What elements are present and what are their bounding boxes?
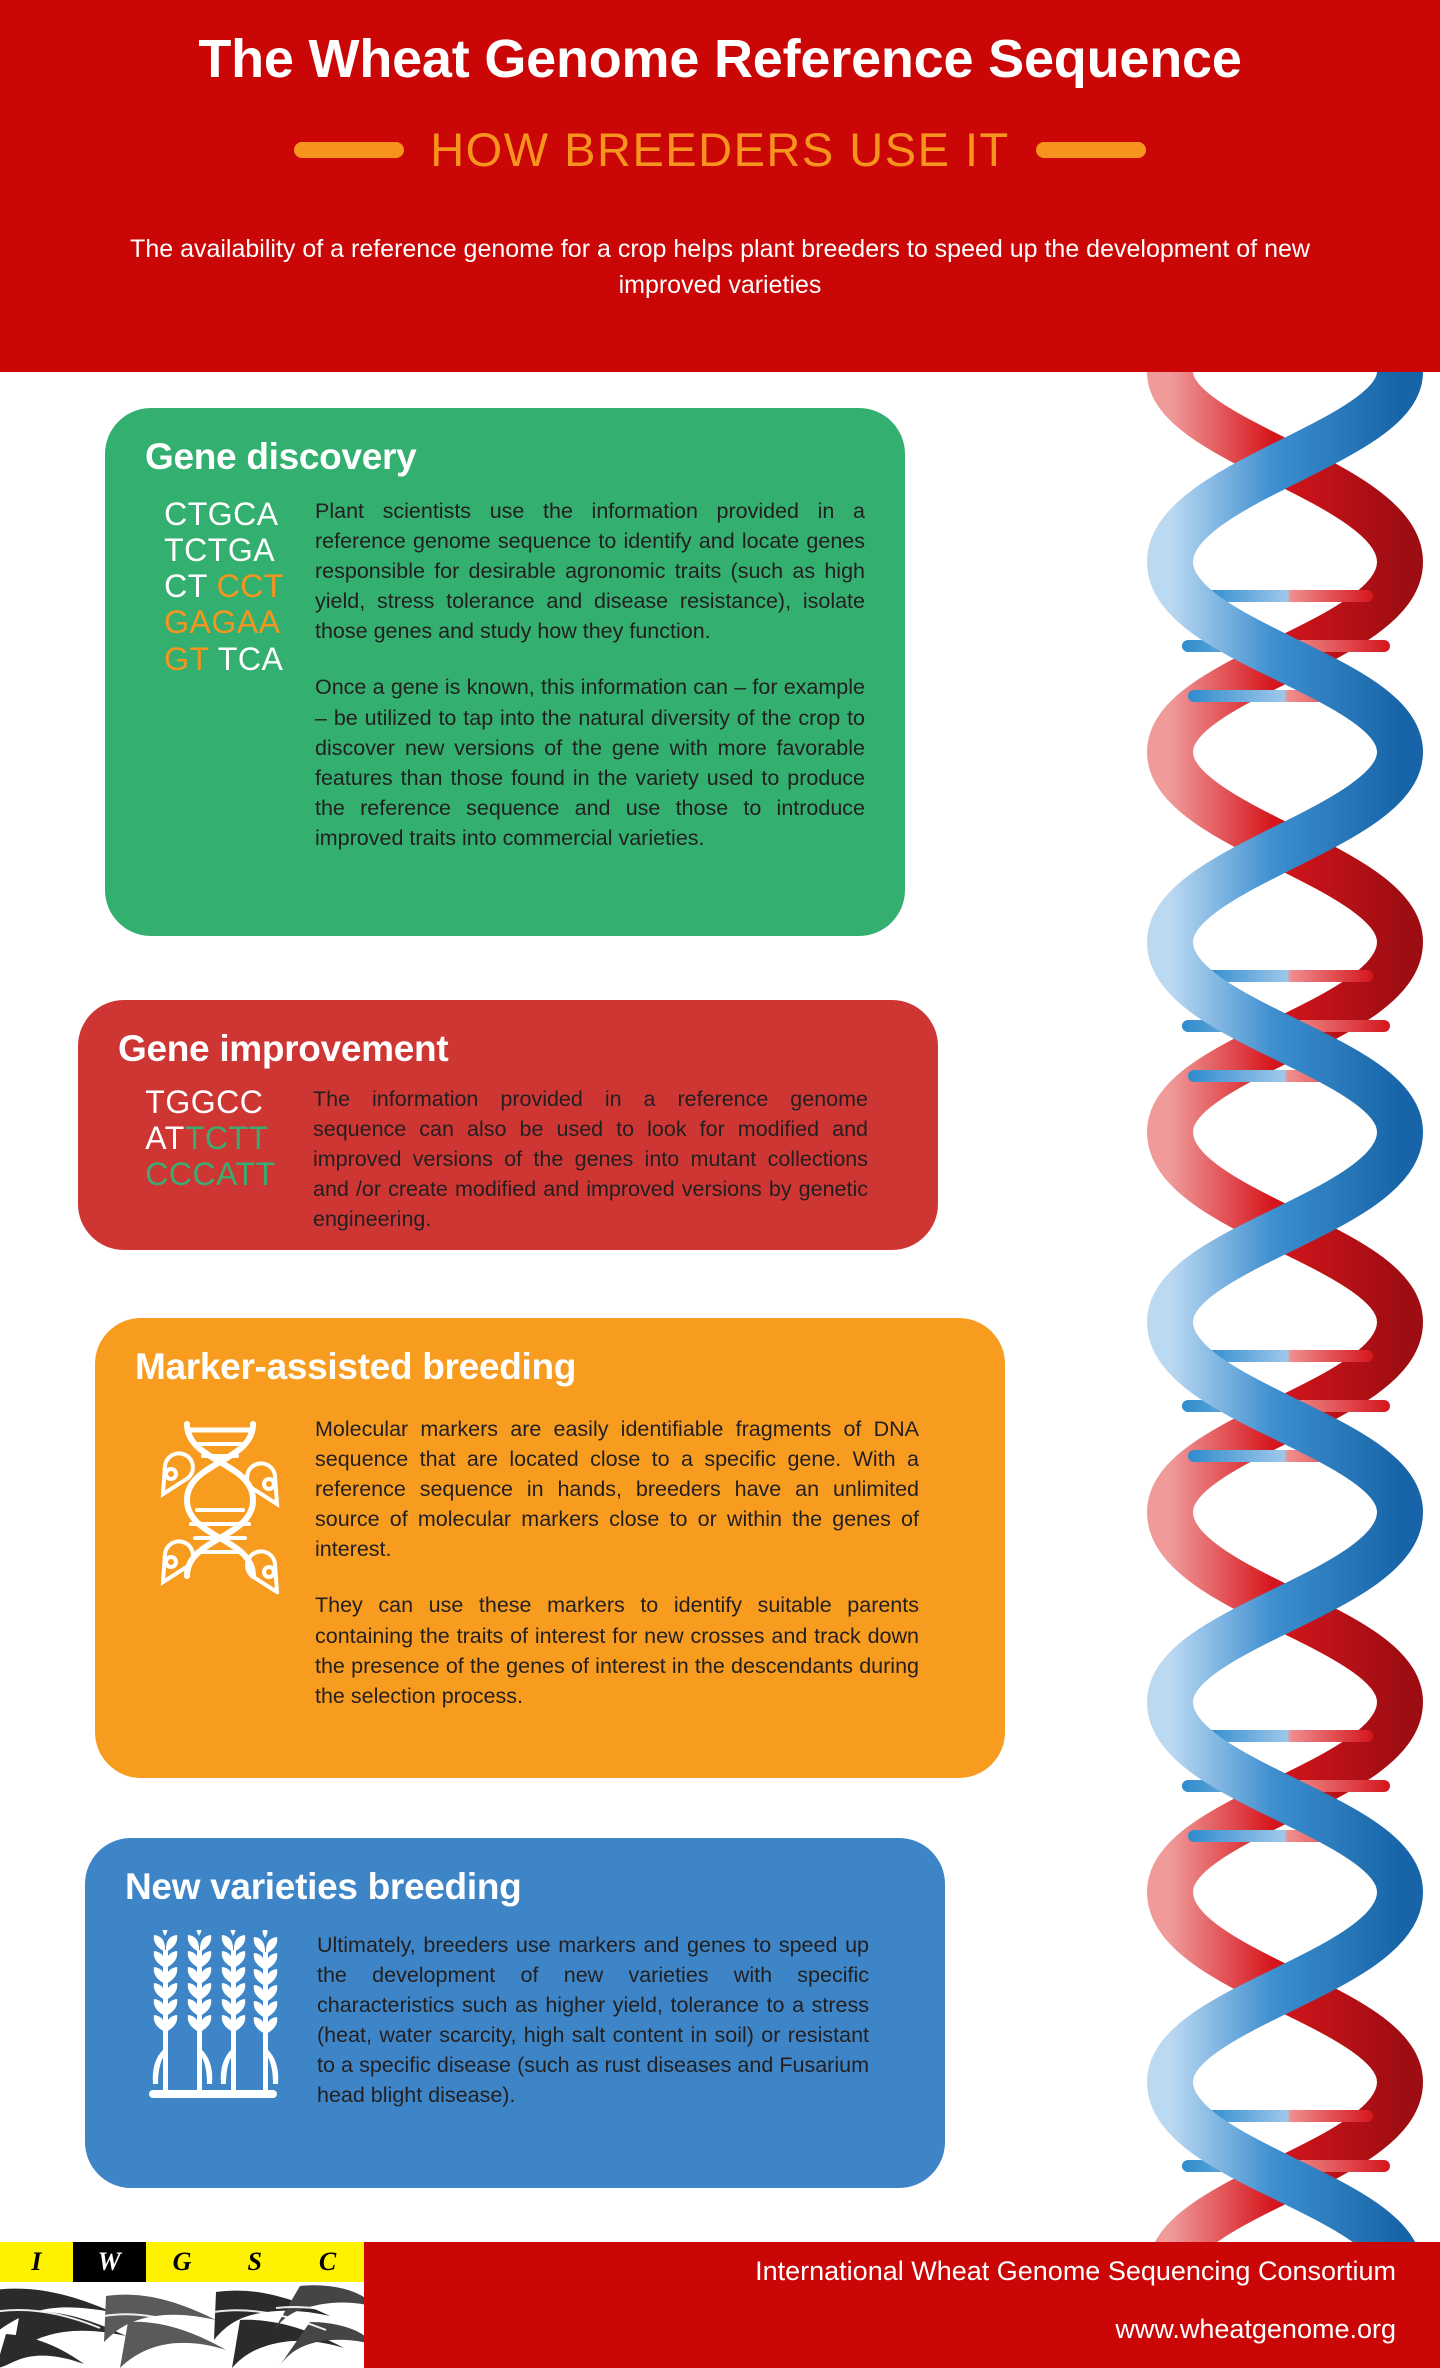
card-gene-improvement: Gene improvement TGGCC ATTCTT CCCATT The… (78, 1000, 938, 1250)
dna-sequence-gene-discovery: CTGCA TCTGA CT CCT GAGAA GT TCA (145, 496, 303, 853)
card-paragraph: The information provided in a reference … (313, 1084, 868, 1234)
dna-sequence-text: CTGCA TCTGA CT CCT GAGAA GT TCA (164, 496, 284, 677)
logo-letter-c: C (291, 2242, 364, 2282)
logo-letter-i: I (0, 2242, 73, 2282)
card-paragraph: Ultimately, breeders use markers and gen… (317, 1930, 869, 2111)
page-footer: International Wheat Genome Sequencing Co… (0, 2242, 1440, 2368)
iwgsc-logo-letter-band: I W G S C (0, 2242, 364, 2282)
card-marker-assisted-breeding: Marker-assisted breeding (95, 1318, 1005, 1778)
iwgsc-logo[interactable]: I W G S C (0, 2242, 364, 2368)
card-title-marker-breeding: Marker-assisted breeding (135, 1346, 965, 1388)
card-title-gene-improvement: Gene improvement (118, 1028, 898, 1070)
header-lede-text: The availability of a reference genome f… (120, 232, 1320, 303)
card-paragraph: Plant scientists use the information pro… (315, 496, 865, 646)
logo-letter-s: S (218, 2242, 291, 2282)
footer-consortium-name: International Wheat Genome Sequencing Co… (755, 2256, 1396, 2287)
card-title-new-varieties: New varieties breeding (125, 1866, 905, 1908)
card-title-gene-discovery: Gene discovery (145, 436, 865, 478)
wheat-stalks-icon (125, 1930, 305, 2130)
dna-sequence-gene-improvement: TGGCC ATTCTT CCCATT (118, 1084, 303, 1234)
footer-red-bar: International Wheat Genome Sequencing Co… (364, 2242, 1440, 2368)
card-new-varieties-breeding: New varieties breeding (85, 1838, 945, 2188)
page-title: The Wheat Genome Reference Sequence (0, 28, 1440, 90)
dash-right-decoration (1036, 142, 1146, 158)
dna-sequence-text: TGGCC ATTCTT CCCATT (145, 1084, 275, 1192)
dna-double-helix-illustration (1110, 372, 1440, 2272)
logo-letter-w: W (73, 2242, 146, 2282)
dash-left-decoration (294, 142, 404, 158)
wheat-spike-photo-icon (0, 2282, 364, 2368)
dna-markers-icon (135, 1414, 305, 1711)
infographic-page: The Wheat Genome Reference Sequence HOW … (0, 0, 1440, 2368)
card-gene-discovery: Gene discovery CTGCA TCTGA CT CCT GAGAA … (105, 408, 905, 936)
subtitle-row: HOW BREEDERS USE IT (0, 122, 1440, 177)
footer-website-url[interactable]: www.wheatgenome.org (1115, 2314, 1396, 2345)
card-paragraph: Once a gene is known, this information c… (315, 672, 865, 853)
page-subtitle: HOW BREEDERS USE IT (430, 122, 1010, 177)
page-header: The Wheat Genome Reference Sequence HOW … (0, 0, 1440, 372)
card-paragraph: They can use these markers to identify s… (315, 1590, 919, 1710)
card-paragraph: Molecular markers are easily identifiabl… (315, 1414, 919, 1564)
logo-letter-g: G (146, 2242, 219, 2282)
